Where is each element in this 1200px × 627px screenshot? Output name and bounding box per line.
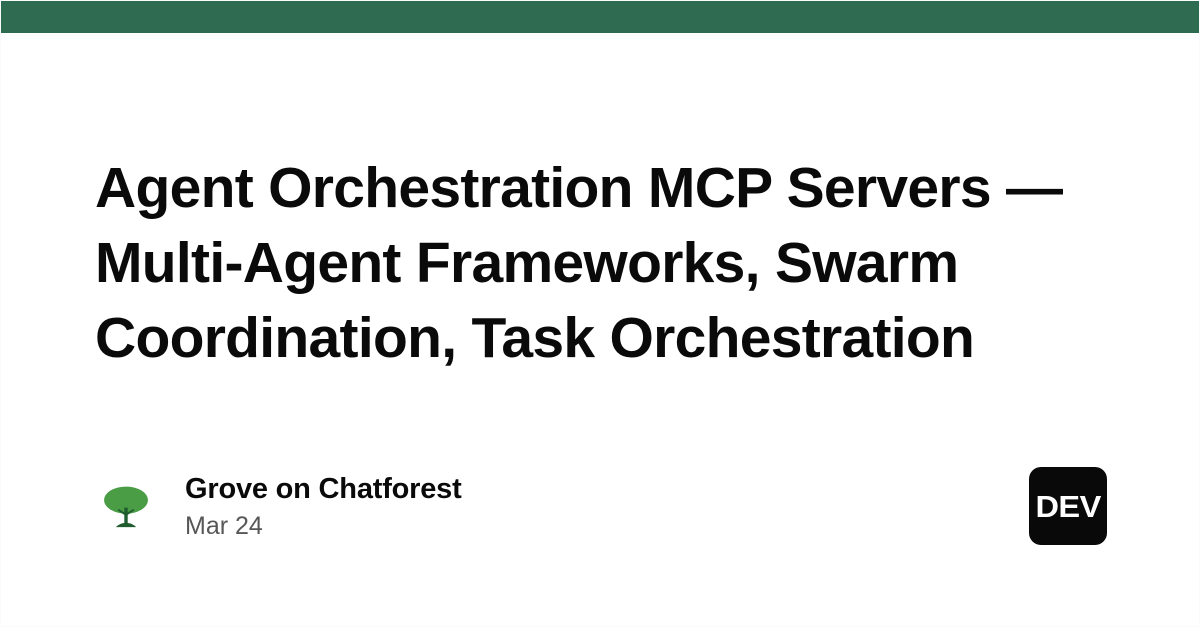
dev-logo-text: DEV [1035, 491, 1100, 522]
author-text-group: Grove on Chatforest Mar 24 [185, 472, 462, 541]
article-meta-row: Grove on Chatforest Mar 24 DEV [95, 463, 1107, 549]
dev-logo-icon[interactable]: DEV [1029, 467, 1107, 545]
avatar[interactable] [95, 475, 157, 537]
title-block: Agent Orchestration MCP Servers — Multi-… [95, 151, 1115, 376]
tree-icon [99, 479, 153, 533]
article-title: Agent Orchestration MCP Servers — Multi-… [95, 151, 1115, 376]
author-name[interactable]: Grove on Chatforest [185, 472, 462, 506]
top-accent-bar [1, 1, 1200, 33]
publish-date: Mar 24 [185, 512, 462, 541]
author-group[interactable]: Grove on Chatforest Mar 24 [95, 472, 462, 541]
article-social-card: Agent Orchestration MCP Servers — Multi-… [0, 0, 1200, 627]
